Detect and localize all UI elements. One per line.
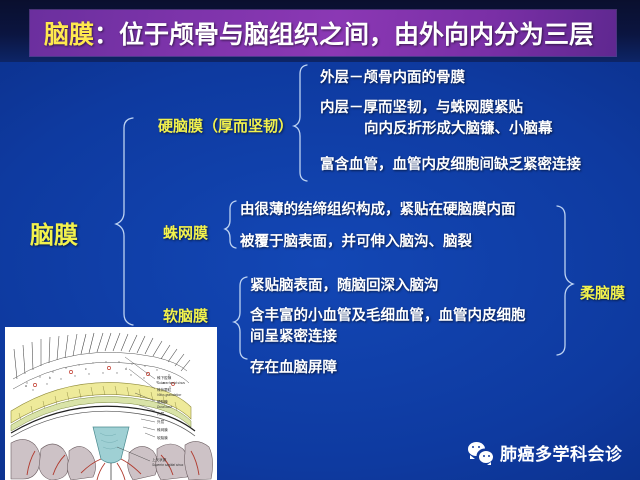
root-label-meninges: 脑膜 [30,215,78,250]
watermark-text: 肺癌多学科会诊 [500,440,623,465]
svg-text:Dural base: Dural base [157,405,173,409]
svg-text:b: b [49,376,51,380]
svg-text:a: a [25,384,27,388]
meninges-cross-section-figure: 蛛下腔隙 Subarachnoid sinus 蛛状颗粒 Villus gran… [5,327,217,480]
detail-dura-inner-line1: 内层－厚而坚韧，与蛛网膜紧贴 [320,100,523,116]
brace-root [116,118,133,325]
brace-dura [294,65,307,181]
branch-label-arachnoid: 蛛网膜 [163,222,208,243]
detail-pia-vessels-line1: 含丰富的小血管及毛细血管，血管内皮细胞 [250,308,526,324]
group-label-leptomeninges: 柔脑膜 [580,282,625,303]
title-separator: ： [94,15,119,51]
brace-pia [234,277,247,359]
detail-arachnoid-structure: 由很薄的结缔组织构成，紧贴在硬脑膜内面 [240,200,516,221]
brace-arachnoid [225,201,236,248]
svg-text:d: d [125,367,127,371]
svg-text:上矢状窦: 上矢状窦 [152,457,167,462]
detail-pia-vessels-line2: 间呈紧密连接 [250,327,526,348]
detail-dura-inner: 内层－厚而坚韧，与蛛网膜紧贴 向内反折形成大脑镰、小脑幕 [320,98,553,139]
detail-pia-bbb: 存在血脑屏障 [250,358,337,379]
detail-pia-vessels: 含丰富的小血管及毛细血管，血管内皮细胞 间呈紧密连接 [250,306,526,347]
title-banner: 脑膜：位于颅骨与脑组织之间，由外向内分为三层 [30,10,616,56]
detail-dura-inner-line2: 向内反折形成大脑镰、小脑幕 [320,119,553,140]
detail-dura-vessels: 富含血管，血管内皮细胞间缺乏紧密连接 [320,155,581,176]
wechat-icon [468,442,493,463]
brace-leptomeninges [557,206,573,355]
watermark-logo: 肺癌多学科会诊 [468,440,623,465]
svg-text:Villus granulation: Villus granulation [157,393,181,397]
branch-label-pia-mater: 软脑膜 [163,305,208,326]
slide-canvas: 脑膜：位于颅骨与脑组织之间，由外向内分为三层 脑膜 硬脑膜（厚而坚韧） 蛛网膜 … [0,0,640,480]
svg-text:蛛状颗粒: 蛛状颗粒 [157,387,172,392]
svg-text:蛛下腔隙: 蛛下腔隙 [157,375,172,380]
svg-text:Subarachnoid sinus: Subarachnoid sinus [157,381,185,385]
svg-text:外层: 外层 [157,419,165,424]
title-rest: 位于颅骨与脑组织之间，由外向内分为三层 [119,15,594,51]
title-keyword: 脑膜 [44,15,94,51]
svg-text:Superior sagittal sinus: Superior sagittal sinus [152,463,184,467]
svg-text:内层: 内层 [157,411,165,416]
svg-text:软脑膜: 软脑膜 [157,435,168,440]
detail-arachnoid-coverage: 被覆于脑表面，并可伸入脑沟、脑裂 [240,232,472,253]
detail-pia-surface: 紧贴脑表面，随脑回深入脑沟 [250,276,439,297]
anatomy-diagram-svg: 蛛下腔隙 Subarachnoid sinus 蛛状颗粒 Villus gran… [5,327,217,480]
svg-text:硬脑膜: 硬脑膜 [157,399,168,404]
branch-label-dura-mater: 硬脑膜（厚而坚韧） [158,115,293,136]
detail-dura-outer: 外层－颅骨内面的骨膜 [320,68,465,89]
svg-text:e: e [163,381,165,385]
svg-text:蛛网膜: 蛛网膜 [157,427,168,432]
